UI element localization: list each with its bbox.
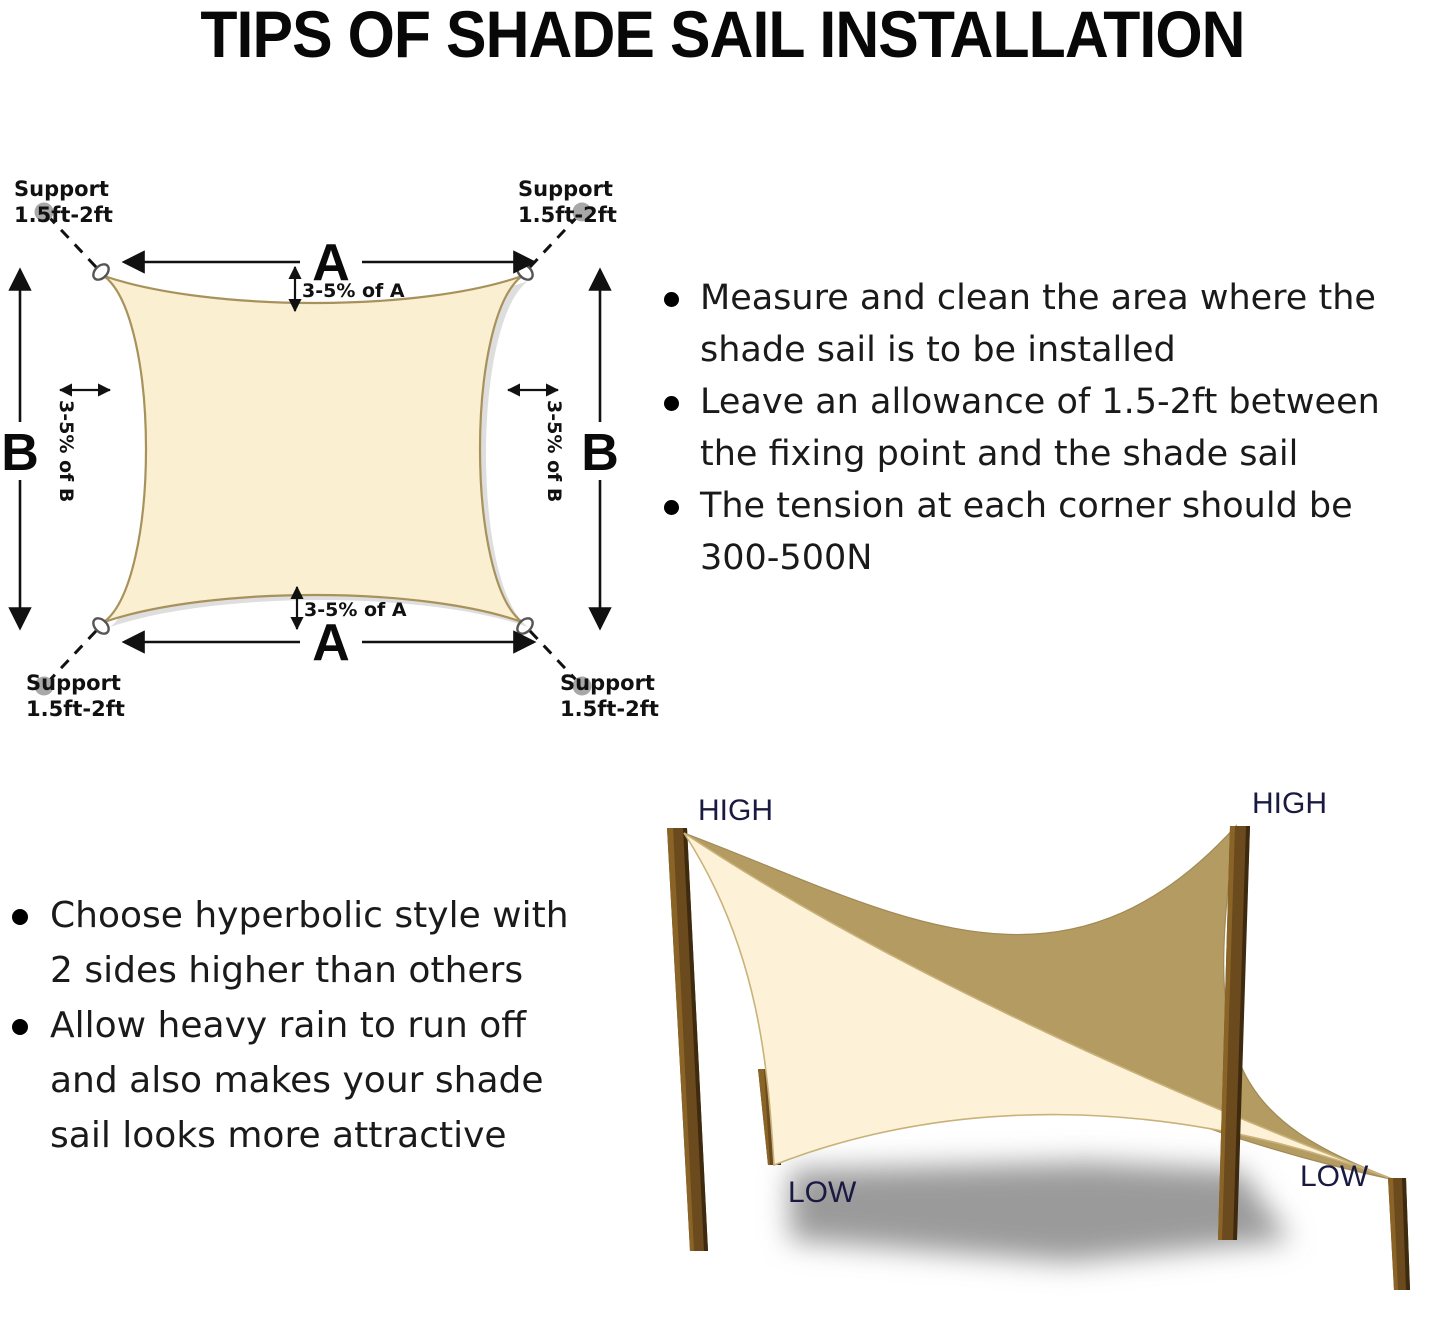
support-label-top-left-line2: 1.5ft-2ft [14, 203, 113, 227]
bullet-dot-icon [12, 1019, 28, 1035]
list-item: Choose hyperbolic style with [4, 888, 624, 943]
list-item-continuation: the fixing point and the shade sail [648, 428, 1445, 480]
bullet-dot-icon [12, 909, 28, 925]
bullet-line: Choose hyperbolic style with [50, 895, 569, 936]
list-item: Measure and clean the area where the [648, 272, 1445, 324]
shade-sail-shape [104, 276, 522, 622]
bullet-line: shade sail is to be installed [700, 330, 1176, 370]
list-item-continuation: 2 sides higher than others [4, 943, 624, 998]
label-high-left: HIGH [698, 794, 773, 827]
bullet-line: Leave an allowance of 1.5-2ft between [700, 382, 1380, 422]
bullet-line: 300-500N [700, 538, 872, 578]
label-low-right: LOW [1300, 1160, 1369, 1193]
bullet-line: 2 sides higher than others [50, 950, 523, 991]
bullet-dot-icon [664, 396, 679, 411]
support-label-bottom-left-line1: Support [26, 671, 121, 695]
support-label-bottom-right-line1: Support [560, 671, 655, 695]
curve-label-right: 3-5% of B [543, 400, 565, 502]
support-label-top-right-line1: Support [518, 177, 613, 201]
page-title: TIPS OF SHADE SAIL INSTALLATION [58, 0, 1387, 72]
bullet-line: Measure and clean the area where the [700, 278, 1376, 318]
support-label-top-right-line2: 1.5ft-2ft [518, 203, 617, 227]
rectangular-sail-diagram: Support 1.5ft-2ft Support 1.5ft-2ft Supp… [0, 150, 660, 730]
post-high-left [667, 828, 708, 1251]
curve-label-left: 3-5% of B [55, 400, 77, 502]
ground-shadow [790, 1162, 1290, 1262]
list-item-continuation: and also makes your shade [4, 1053, 624, 1108]
list-item-continuation: sail looks more attractive [4, 1108, 624, 1163]
bullet-dot-icon [664, 292, 679, 307]
bullet-line: Allow heavy rain to run off [50, 1005, 526, 1046]
support-label-bottom-right-line2: 1.5ft-2ft [560, 697, 659, 721]
support-label-top-left-line1: Support [14, 177, 109, 201]
tips-list-bottom: Choose hyperbolic style with 2 sides hig… [4, 888, 624, 1163]
post-low-right [1388, 1178, 1410, 1290]
bullet-dot-icon [664, 500, 679, 515]
bullet-line: sail looks more attractive [50, 1115, 507, 1156]
curve-label-top: 3-5% of A [302, 280, 405, 302]
list-item-continuation: 300-500N [648, 532, 1445, 584]
list-item: Leave an allowance of 1.5-2ft between [648, 376, 1445, 428]
hyperbolic-sail-illustration: HIGH HIGH LOW LOW [640, 770, 1445, 1319]
bullet-line: the fixing point and the shade sail [700, 434, 1298, 474]
bullet-line: and also makes your shade [50, 1060, 544, 1101]
tips-list-top: Measure and clean the area where the sha… [648, 272, 1445, 584]
label-low-left: LOW [788, 1176, 857, 1209]
dimension-label-left-b: B [1, 424, 39, 482]
support-label-bottom-left-line2: 1.5ft-2ft [26, 697, 125, 721]
list-item: Allow heavy rain to run off [4, 998, 624, 1053]
curve-label-bottom: 3-5% of A [304, 599, 407, 621]
bullet-line: The tension at each corner should be [700, 486, 1353, 526]
dimension-label-bottom-a: A [312, 614, 350, 672]
label-high-right: HIGH [1252, 787, 1327, 820]
dimension-label-right-b: B [581, 424, 619, 482]
list-item-continuation: shade sail is to be installed [648, 324, 1445, 376]
list-item: The tension at each corner should be [648, 480, 1445, 532]
